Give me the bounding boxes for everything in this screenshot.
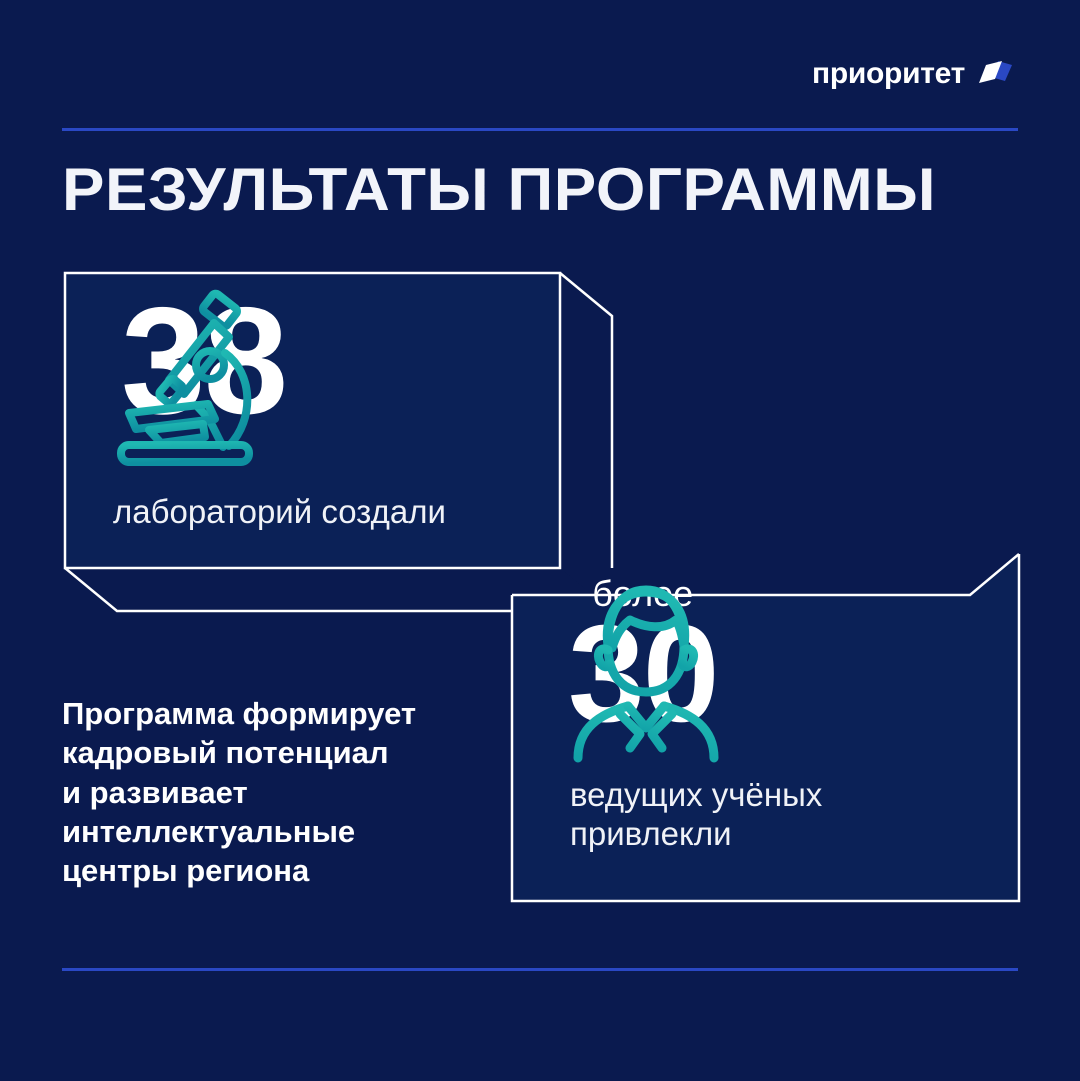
card-labs-stat-row: 38 (113, 293, 286, 430)
page-title: РЕЗУЛЬТАТЫ ПРОГРАММЫ (62, 158, 936, 221)
infographic-canvas: приоритет РЕЗУЛЬТАТЫ ПРОГРАММЫ (0, 0, 1080, 1081)
brand-logo: приоритет (812, 54, 1018, 94)
card-labs-body: 38 лабораторий создали (65, 273, 560, 568)
card-scientists-body: более 30 ведущих учёных привлекли (512, 554, 1017, 899)
card-labs-caption: лабораторий создали (113, 493, 446, 532)
rhombus-pair-logo-mark-icon (978, 59, 1018, 89)
divider-top (62, 128, 1018, 131)
card-scientists-stat-row: более 30 (560, 576, 718, 736)
brand-wordmark: приоритет (812, 59, 965, 89)
stat-card-scientists: более 30 ведущих учёных привлекли (508, 550, 1023, 905)
lead-paragraph: Программа формирует кадровый потенциал и… (62, 694, 492, 891)
divider-bottom (62, 968, 1018, 971)
card-scientists-caption: ведущих учёных привлекли (570, 776, 822, 854)
